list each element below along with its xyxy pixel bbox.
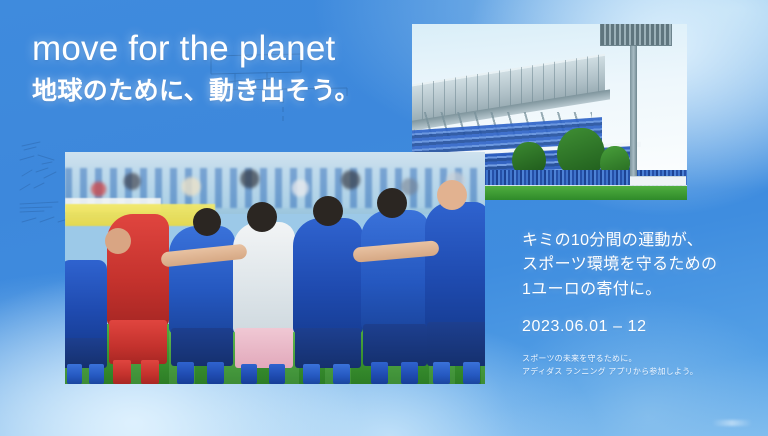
campaign-banner: move for the planet 地球のために、動き出そう。 [0, 0, 768, 436]
player-sock [67, 364, 82, 384]
player-head [313, 196, 343, 226]
campaign-copy-block: キミの10分間の運動が、 スポーツ環境を守るための 1ユーロの寄付に。 2023… [522, 229, 750, 379]
player-sock [207, 362, 224, 384]
player-torso [169, 226, 235, 334]
huddle-background-spectators [65, 158, 485, 210]
player-sock [401, 362, 418, 384]
fine-print-line-2: アディダス ランニング アプリから参加しよう。 [522, 366, 750, 379]
goalkeeper-sock [113, 360, 131, 384]
player-sock [333, 364, 350, 384]
floodlight-tower [630, 36, 637, 176]
corner-mark [712, 420, 752, 426]
stadium-signboard [630, 176, 686, 185]
player-head [247, 202, 277, 232]
player-sock [177, 362, 194, 384]
player-sock [241, 364, 257, 384]
player-head [437, 180, 467, 210]
player-torso [293, 218, 363, 334]
player-sock [463, 362, 480, 384]
player-sock [303, 364, 320, 384]
player-torso [361, 210, 429, 330]
player-sock [269, 364, 285, 384]
player-torso-white [233, 222, 295, 334]
team-huddle-photo [65, 152, 485, 384]
goalkeeper-shorts [109, 320, 167, 364]
stadium-tree [557, 128, 605, 176]
campaign-fine-print: スポーツの未来を守るために。 アディダス ランニング アプリから参加しよう。 [522, 353, 750, 379]
player-shorts [295, 328, 361, 368]
player-sock [371, 362, 388, 384]
player-shorts-pink [235, 328, 293, 368]
player-torso [65, 260, 107, 344]
goalkeeper-head [105, 228, 131, 254]
player-shorts [171, 328, 233, 366]
player-shorts [363, 324, 427, 366]
player-head [377, 188, 407, 218]
page-title: move for the planet [32, 31, 335, 66]
fine-print-line-1: スポーツの未来を守るために。 [522, 353, 750, 366]
player-sock [433, 362, 450, 384]
copy-line-3: 1ユーロの寄付に。 [522, 278, 750, 302]
player-torso [425, 202, 485, 328]
copy-line-1: キミの10分間の運動が、 [522, 229, 750, 253]
player-sock [89, 364, 104, 384]
goalkeeper-sock [141, 360, 159, 384]
floodlight-lamps [600, 24, 672, 46]
copy-line-2: スポーツ環境を守るための [522, 253, 750, 277]
player-head [193, 208, 221, 236]
player-shorts [427, 322, 485, 366]
campaign-date-range: 2023.06.01 – 12 [522, 317, 750, 336]
page-subtitle: 地球のために、動き出そう。 [32, 77, 360, 105]
